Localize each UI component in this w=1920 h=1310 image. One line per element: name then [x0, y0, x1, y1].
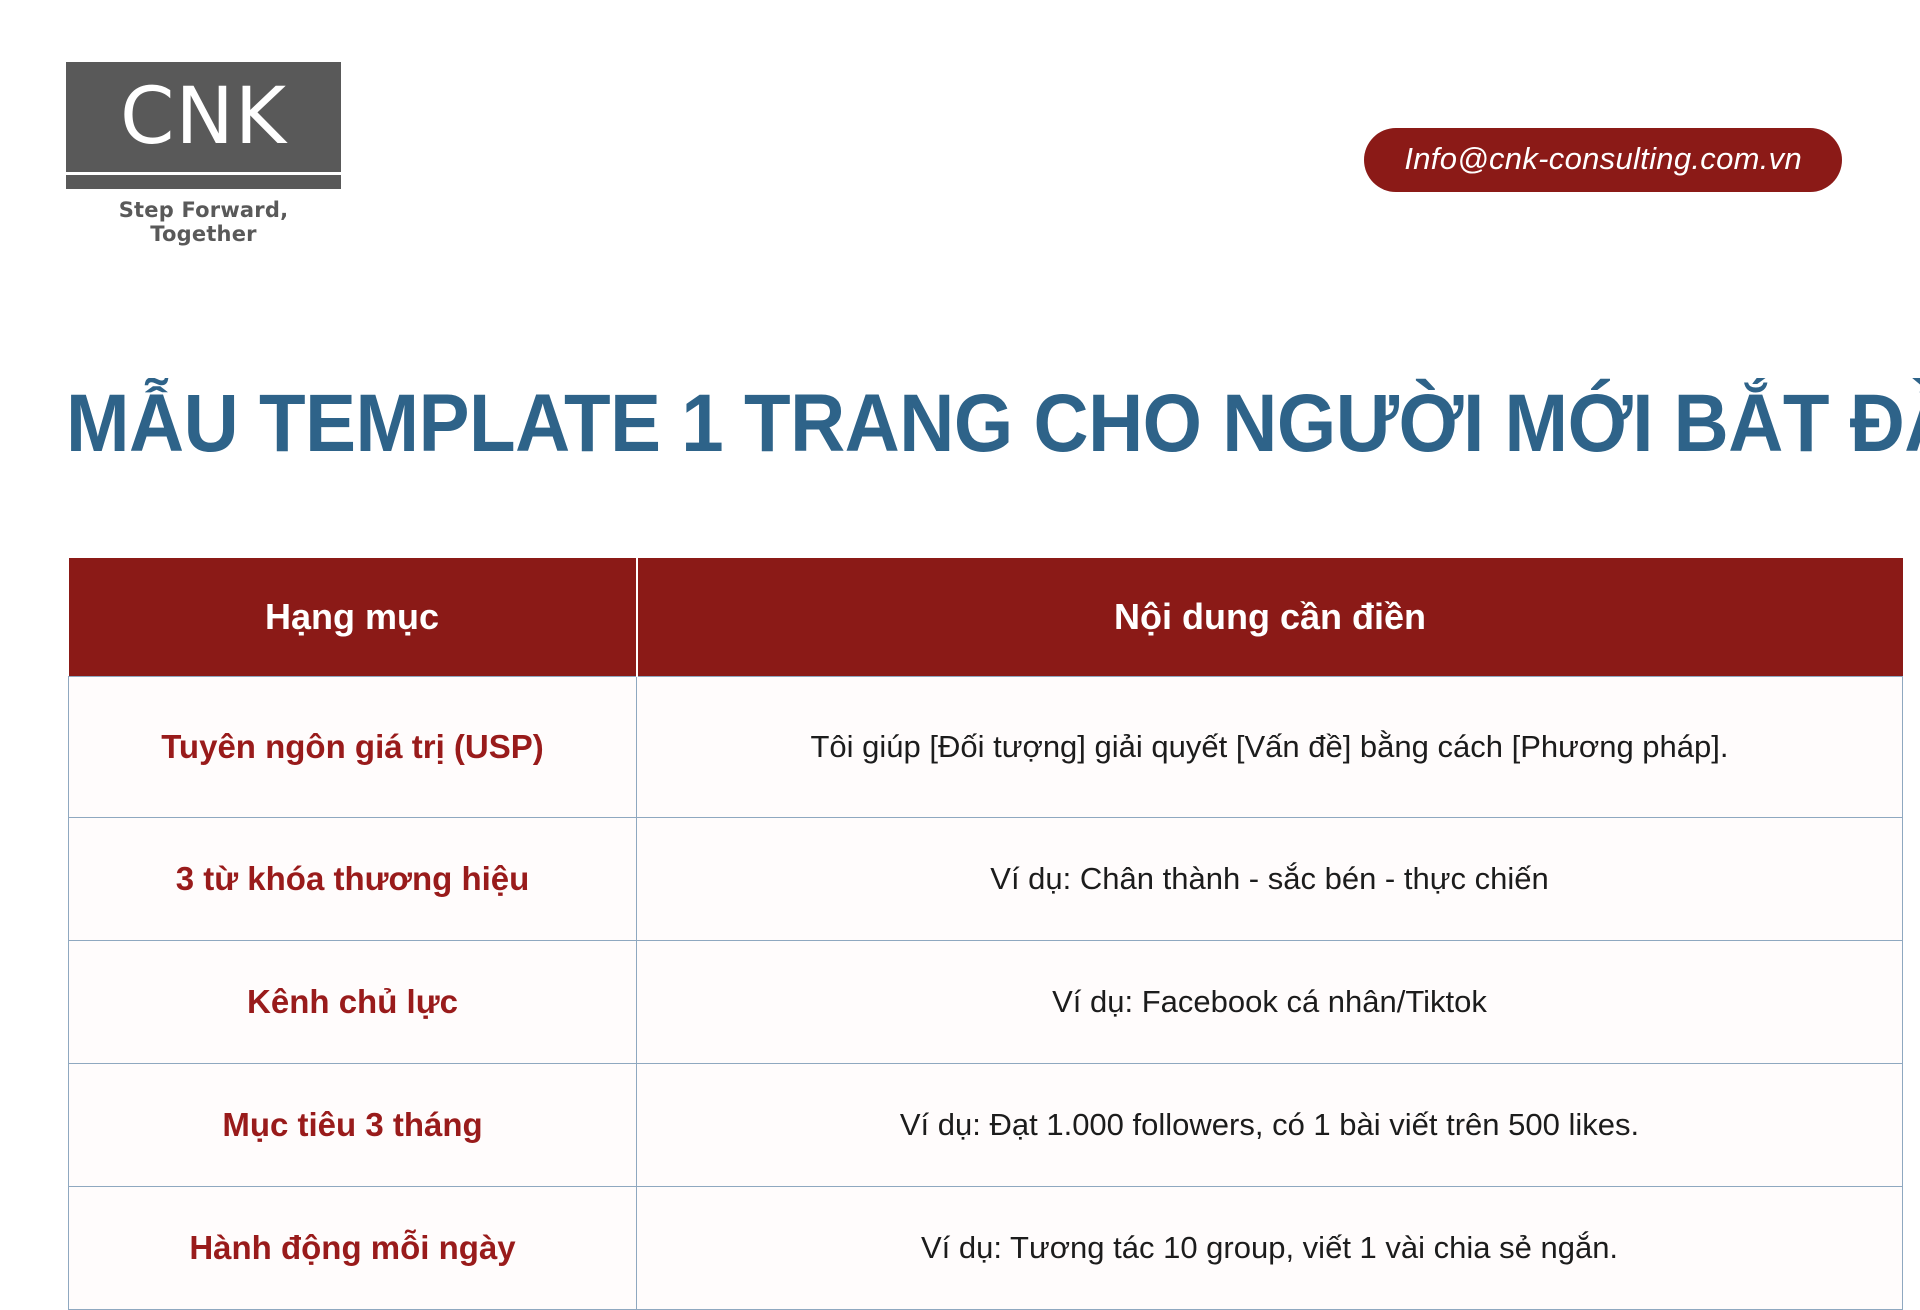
table-row: Hành động mỗi ngày Ví dụ: Tương tác 10 g…	[69, 1187, 1903, 1310]
row-category: 3 từ khóa thương hiệu	[69, 818, 637, 941]
row-category: Mục tiêu 3 tháng	[69, 1064, 637, 1187]
row-content: Tôi giúp [Đối tượng] giải quyết [Vấn đề]…	[637, 677, 1903, 818]
row-content: Ví dụ: Chân thành - sắc bén - thực chiến	[637, 818, 1903, 941]
page-header: CNK Step Forward, Together Info@cnk-cons…	[0, 0, 1920, 260]
column-header-category: Hạng mục	[69, 558, 637, 677]
table-row: 3 từ khóa thương hiệu Ví dụ: Chân thành …	[69, 818, 1903, 941]
row-content: Ví dụ: Tương tác 10 group, viết 1 vài ch…	[637, 1187, 1903, 1310]
row-category: Kênh chủ lực	[69, 941, 637, 1064]
logo-tagline: Step Forward, Together	[66, 198, 341, 246]
table-head: Hạng mục Nội dung cần điền	[69, 558, 1903, 677]
row-category: Tuyên ngôn giá trị (USP)	[69, 677, 637, 818]
table-row: Mục tiêu 3 tháng Ví dụ: Đạt 1.000 follow…	[69, 1064, 1903, 1187]
page-title: MẪU TEMPLATE 1 TRANG CHO NGƯỜI MỚI BẮT Đ…	[66, 381, 1740, 467]
table-header-row: Hạng mục Nội dung cần điền	[69, 558, 1903, 677]
column-header-content: Nội dung cần điền	[637, 558, 1903, 677]
row-content: Ví dụ: Facebook cá nhân/Tiktok	[637, 941, 1903, 1064]
logo-wordmark: CNK	[120, 78, 287, 156]
template-table: Hạng mục Nội dung cần điền Tuyên ngôn gi…	[68, 558, 1903, 1310]
row-content: Ví dụ: Đạt 1.000 followers, có 1 bài viế…	[637, 1064, 1903, 1187]
row-category: Hành động mỗi ngày	[69, 1187, 637, 1310]
table-body: Tuyên ngôn giá trị (USP) Tôi giúp [Đối t…	[69, 677, 1903, 1310]
logo-mark: CNK	[66, 62, 341, 172]
table-row: Tuyên ngôn giá trị (USP) Tôi giúp [Đối t…	[69, 677, 1903, 818]
contact-email-badge[interactable]: Info@cnk-consulting.com.vn	[1364, 128, 1842, 192]
brand-logo: CNK Step Forward, Together	[66, 62, 341, 246]
table-row: Kênh chủ lực Ví dụ: Facebook cá nhân/Tik…	[69, 941, 1903, 1064]
logo-underbar	[66, 175, 341, 189]
template-table-wrapper: Hạng mục Nội dung cần điền Tuyên ngôn gi…	[68, 558, 1902, 1310]
